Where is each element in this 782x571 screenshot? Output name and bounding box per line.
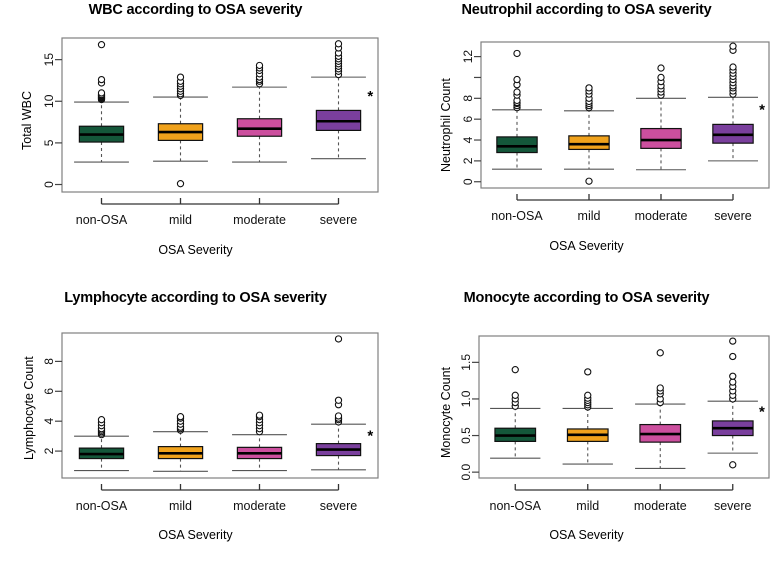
y-tick-label: 15 xyxy=(42,53,56,67)
y-axis-label: Neutrophil Count xyxy=(439,78,453,172)
box-moderate xyxy=(232,412,287,470)
x-tick-label: moderate xyxy=(233,499,286,513)
x-tick-label: severe xyxy=(320,499,358,513)
significance-marker: * xyxy=(759,101,765,118)
y-tick-label: 5 xyxy=(42,139,56,146)
y-tick-label: 6 xyxy=(461,116,475,123)
y-tick-label: 0 xyxy=(42,181,56,188)
panel-lymphocyte: Lymphocyte according to OSA severity 246… xyxy=(0,285,391,571)
box-moderate xyxy=(636,65,686,170)
y-tick-label: 12 xyxy=(461,50,475,64)
x-tick-label: moderate xyxy=(635,209,688,223)
box-mild xyxy=(564,85,614,185)
box-non-OSA xyxy=(74,42,129,162)
x-tick-label: severe xyxy=(714,209,752,223)
box-severe xyxy=(311,336,366,470)
x-tick-label: mild xyxy=(576,499,599,513)
x-axis-label: OSA Severity xyxy=(0,528,391,542)
x-tick-label: non-OSA xyxy=(76,499,128,513)
x-axis-label: OSA Severity xyxy=(391,239,782,253)
y-tick-label: 4 xyxy=(461,136,475,143)
y-tick-label: 8 xyxy=(461,95,475,102)
y-tick-label: 4 xyxy=(42,418,56,425)
x-tick-label: mild xyxy=(169,499,192,513)
x-axis-label: OSA Severity xyxy=(391,528,782,542)
y-tick-label: 1.0 xyxy=(459,390,473,407)
y-tick-label: 8 xyxy=(42,358,56,365)
panel-wbc: WBC according to OSA severity 051015non-… xyxy=(0,0,391,285)
y-axis-label: Total WBC xyxy=(20,91,34,150)
x-tick-label: severe xyxy=(714,499,752,513)
y-tick-label: 10 xyxy=(42,94,56,108)
y-tick-label: 0 xyxy=(461,178,475,185)
panel-monocyte: Monocyte according to OSA severity 0.00.… xyxy=(391,285,782,571)
box-mild xyxy=(563,369,613,464)
box-non-OSA xyxy=(492,50,542,169)
panel-neutrophil: Neutrophil according to OSA severity 024… xyxy=(391,0,782,285)
box-mild xyxy=(153,414,208,472)
x-tick-label: severe xyxy=(320,213,358,227)
box-moderate xyxy=(232,62,287,162)
x-axis-label: OSA Severity xyxy=(0,243,391,257)
y-tick-label: 0.0 xyxy=(459,463,473,480)
x-tick-label: non-OSA xyxy=(76,213,128,227)
significance-marker: * xyxy=(367,428,373,445)
box-mild xyxy=(153,74,208,187)
x-tick-label: non-OSA xyxy=(491,209,543,223)
y-tick-label: 2 xyxy=(42,447,56,454)
y-tick-label: 1.5 xyxy=(459,354,473,371)
x-tick-label: non-OSA xyxy=(490,499,542,513)
x-tick-label: moderate xyxy=(634,499,687,513)
y-tick-label: 0.5 xyxy=(459,427,473,444)
y-axis-label: Lymphocyte Count xyxy=(22,356,36,460)
box-severe xyxy=(708,43,758,161)
box-severe xyxy=(311,41,366,159)
y-axis-label: Monocyte Count xyxy=(439,367,453,458)
x-tick-label: mild xyxy=(578,209,601,223)
box-severe xyxy=(708,338,758,468)
significance-marker: * xyxy=(367,88,373,105)
x-tick-label: mild xyxy=(169,213,192,227)
significance-marker: * xyxy=(759,404,765,421)
x-tick-label: moderate xyxy=(233,213,286,227)
box-moderate xyxy=(635,350,685,469)
figure-boxplot-grid: WBC according to OSA severity 051015non-… xyxy=(0,0,782,571)
box-non-OSA xyxy=(490,367,540,459)
y-tick-label: 2 xyxy=(461,157,475,164)
box-non-OSA xyxy=(74,417,129,471)
y-tick-label: 6 xyxy=(42,388,56,395)
